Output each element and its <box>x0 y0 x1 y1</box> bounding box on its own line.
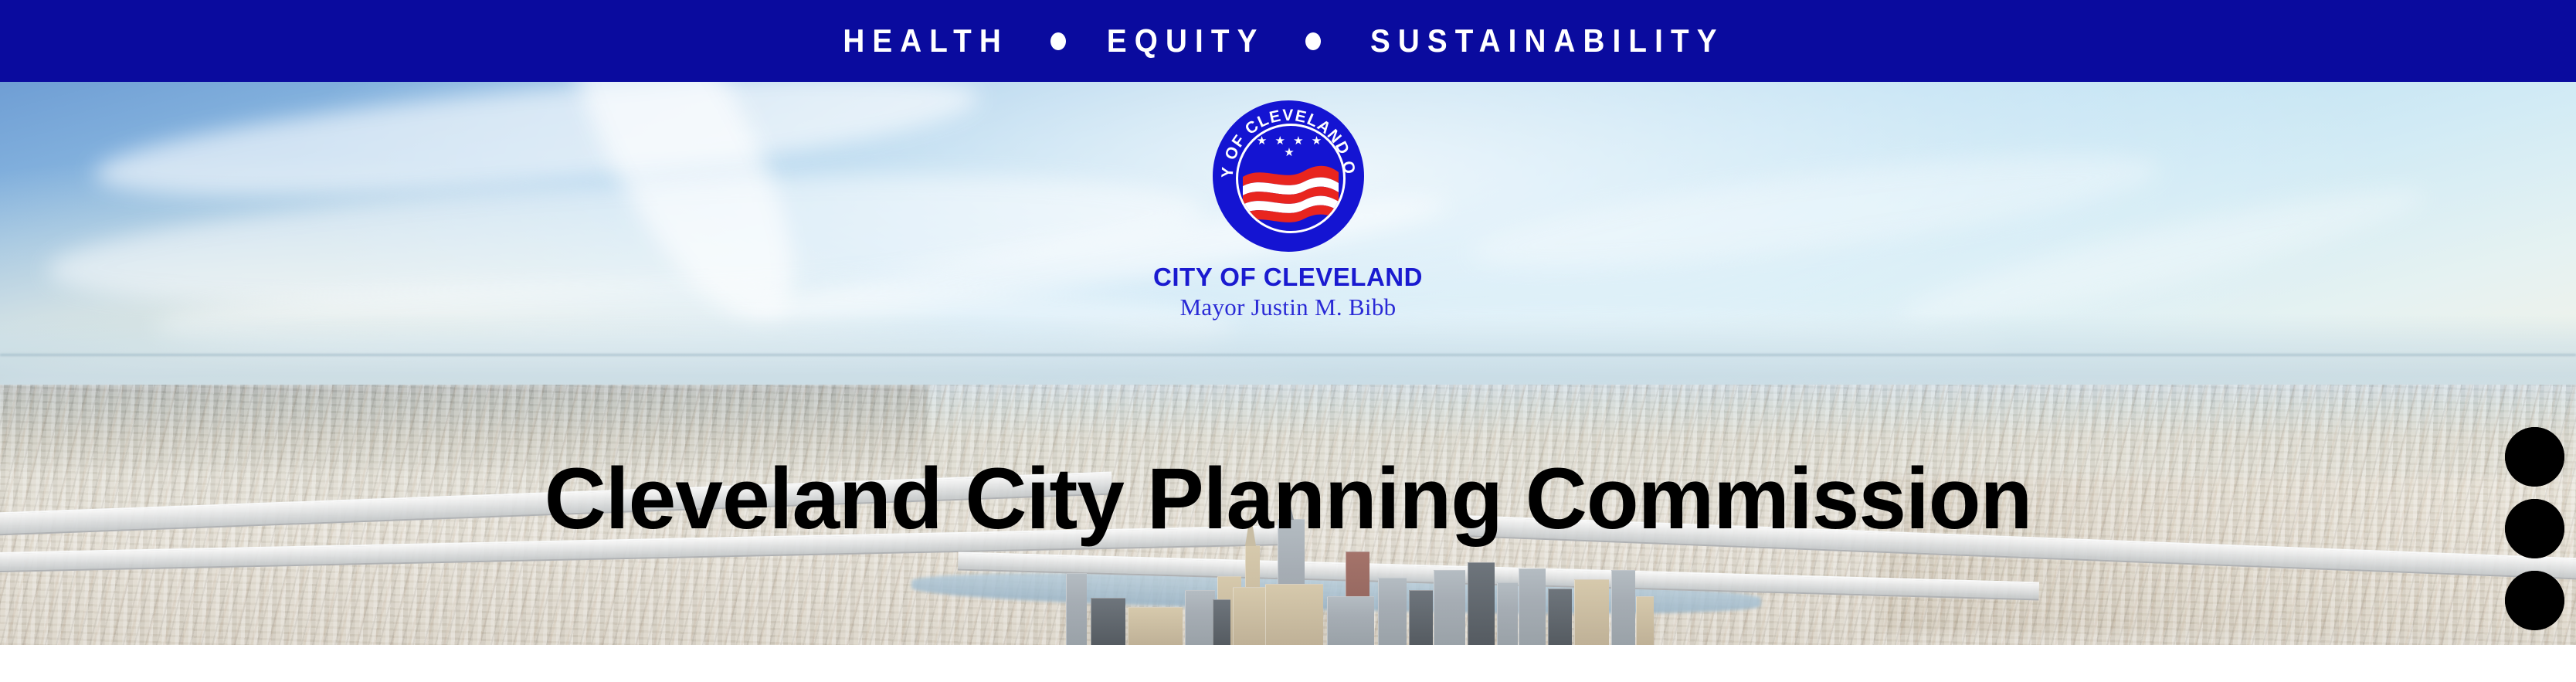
instagram-icon <box>2505 499 2564 558</box>
building <box>1636 596 1654 645</box>
brand-name: CITY OF CLEVELAND <box>1153 264 1423 291</box>
horizon-line <box>0 354 2576 356</box>
city-of-cleveland-seal-icon: CITY OF CLEVELAND OHIO ★ ★ ★ ★ ★ ★ ★ <box>1213 100 1364 252</box>
seal-inner-disc: ★ ★ ★ ★ ★ ★ ★ <box>1236 124 1346 233</box>
tagline-banner: HEALTH EQUITY SUSTAINABILITY <box>0 0 2576 82</box>
building <box>1434 570 1465 645</box>
building <box>1265 584 1323 645</box>
tagline-word-sustainability: SUSTAINABILITY <box>1370 25 1725 57</box>
brand-subtitle: Mayor Justin M. Bibb <box>1180 295 1397 321</box>
page-root: HEALTH EQUITY SUSTAINABILITY <box>0 0 2576 682</box>
building <box>1548 589 1572 645</box>
facebook-link[interactable] <box>2505 571 2564 630</box>
building <box>1468 562 1495 645</box>
facebook-icon <box>2505 571 2564 630</box>
bottom-white-strip <box>0 645 2576 682</box>
building <box>1185 590 1215 645</box>
seal-stars: ★ ★ ★ ★ ★ ★ ★ <box>1238 135 1343 158</box>
page-title: Cleveland City Planning Commission <box>13 456 2564 542</box>
brand-lockup: CITY OF CLEVELAND OHIO ★ ★ ★ ★ ★ ★ ★ <box>0 100 2576 320</box>
building <box>1091 598 1125 645</box>
building <box>1378 578 1407 645</box>
waving-flag-emblem <box>1241 160 1340 225</box>
building <box>1409 590 1433 645</box>
building <box>1519 568 1546 645</box>
building <box>1327 596 1374 645</box>
building <box>1611 570 1635 645</box>
social-links <box>2505 427 2564 630</box>
flag-svg <box>1241 160 1340 225</box>
instagram-link[interactable] <box>2505 499 2564 558</box>
tagline-separator-dot-2 <box>1305 32 1321 50</box>
building <box>1128 607 1183 645</box>
youtube-link[interactable] <box>2505 427 2564 487</box>
tagline-word-health: HEALTH <box>843 25 1010 57</box>
tagline-word-equity: EQUITY <box>1107 25 1265 57</box>
youtube-icon <box>2505 427 2564 487</box>
building <box>1497 582 1518 645</box>
tagline-separator-dot-1 <box>1050 32 1066 50</box>
building <box>1574 579 1609 645</box>
tagline-banner-inner: HEALTH EQUITY SUSTAINABILITY <box>836 25 1739 57</box>
hero-photo: CITY OF CLEVELAND OHIO ★ ★ ★ ★ ★ ★ ★ <box>0 82 2576 645</box>
building <box>1066 573 1087 645</box>
building <box>1213 599 1230 645</box>
